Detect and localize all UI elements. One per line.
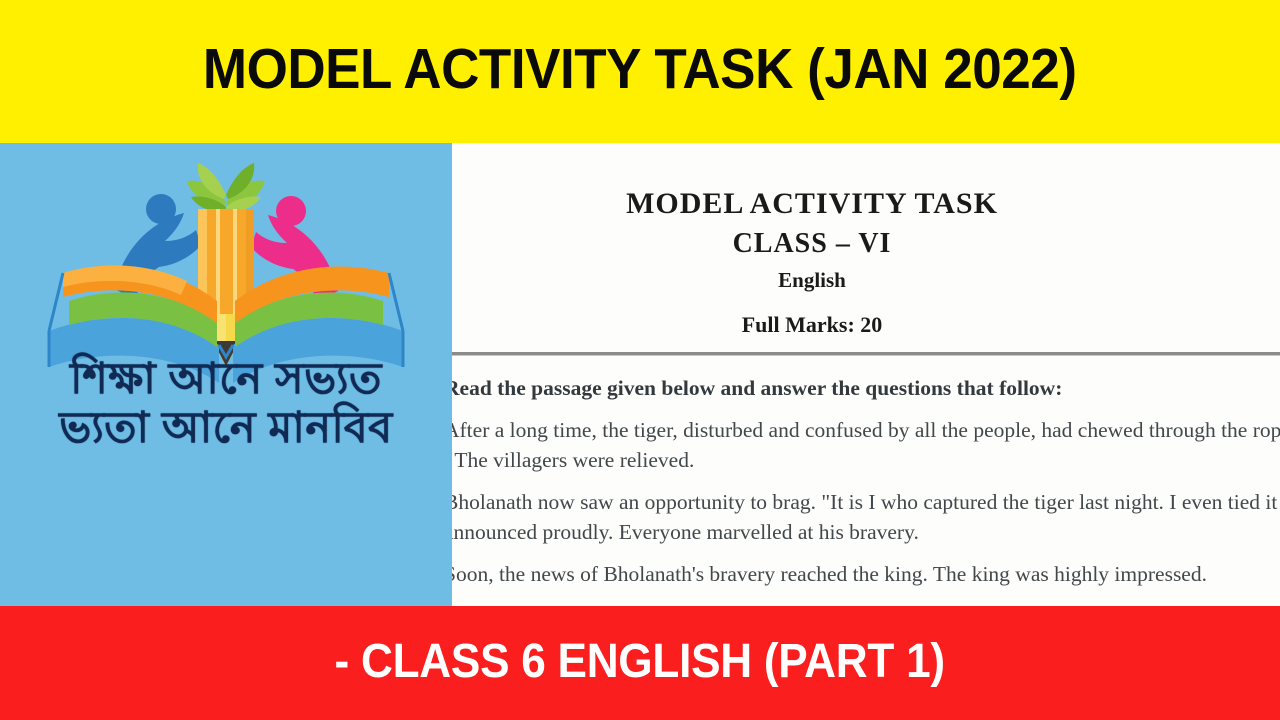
bottom-subtitle-banner: - CLASS 6 ENGLISH (PART 1) [0,606,1280,720]
document-line: Soon, the news of Bholanath's bravery re… [452,559,1280,590]
document-line: After a long time, the tiger, disturbed … [452,415,1280,446]
document-full-marks: Full Marks: 20 [452,310,1280,341]
document-line: announced proudly. Everyone marvelled at… [452,517,1280,548]
document-paragraph-1: After a long time, the tiger, disturbed … [452,415,1280,476]
bottom-banner-title: - CLASS 6 ENGLISH (PART 1) [335,638,945,689]
top-title-banner: MODEL ACTIVITY TASK (JAN 2022) [0,0,1280,143]
document-subject: English [452,266,1280,295]
document-line: . The villagers were relieved. [452,445,1280,476]
document-body: Read the passage given below and answer … [452,374,1280,589]
document-line: Bholanath now saw an opportunity to brag… [452,487,1280,518]
thumbnail-canvas: MODEL ACTIVITY TASK (JAN 2022) [0,0,1280,720]
document-paragraph-3: Soon, the news of Bholanath's bravery re… [452,559,1280,590]
logo-motto-line-2: ভ্যতা আনে মানবিব [0,404,452,453]
top-banner-title: MODEL ACTIVITY TASK (JAN 2022) [203,41,1077,102]
logo-motto: শিক্ষা আনে সভ্যত ভ্যতা আনে মানবিব [0,355,452,454]
document-header: MODEL ACTIVITY TASK CLASS – VI English F… [452,143,1280,340]
document-title: MODEL ACTIVITY TASK [452,185,1280,223]
document-scan-panel: MODEL ACTIVITY TASK CLASS – VI English F… [452,143,1280,606]
logo-panel: শিক্ষা আনে সভ্যত ভ্যতা আনে মানবিব [0,143,452,606]
document-page: MODEL ACTIVITY TASK CLASS – VI English F… [452,143,1280,606]
document-paragraph-2: Bholanath now saw an opportunity to brag… [452,487,1280,548]
leaf-sprout-shape [187,163,265,211]
middle-content-area: শিক্ষা আনে সভ্যত ভ্যতা আনে মানবিব MODEL … [0,143,1280,606]
document-class-line: CLASS – VI [452,225,1280,263]
document-instruction: Read the passage given below and answer … [452,374,1280,403]
logo-motto-line-1: শিক্ষা আনে সভ্যত [0,355,452,404]
document-divider [452,352,1280,356]
